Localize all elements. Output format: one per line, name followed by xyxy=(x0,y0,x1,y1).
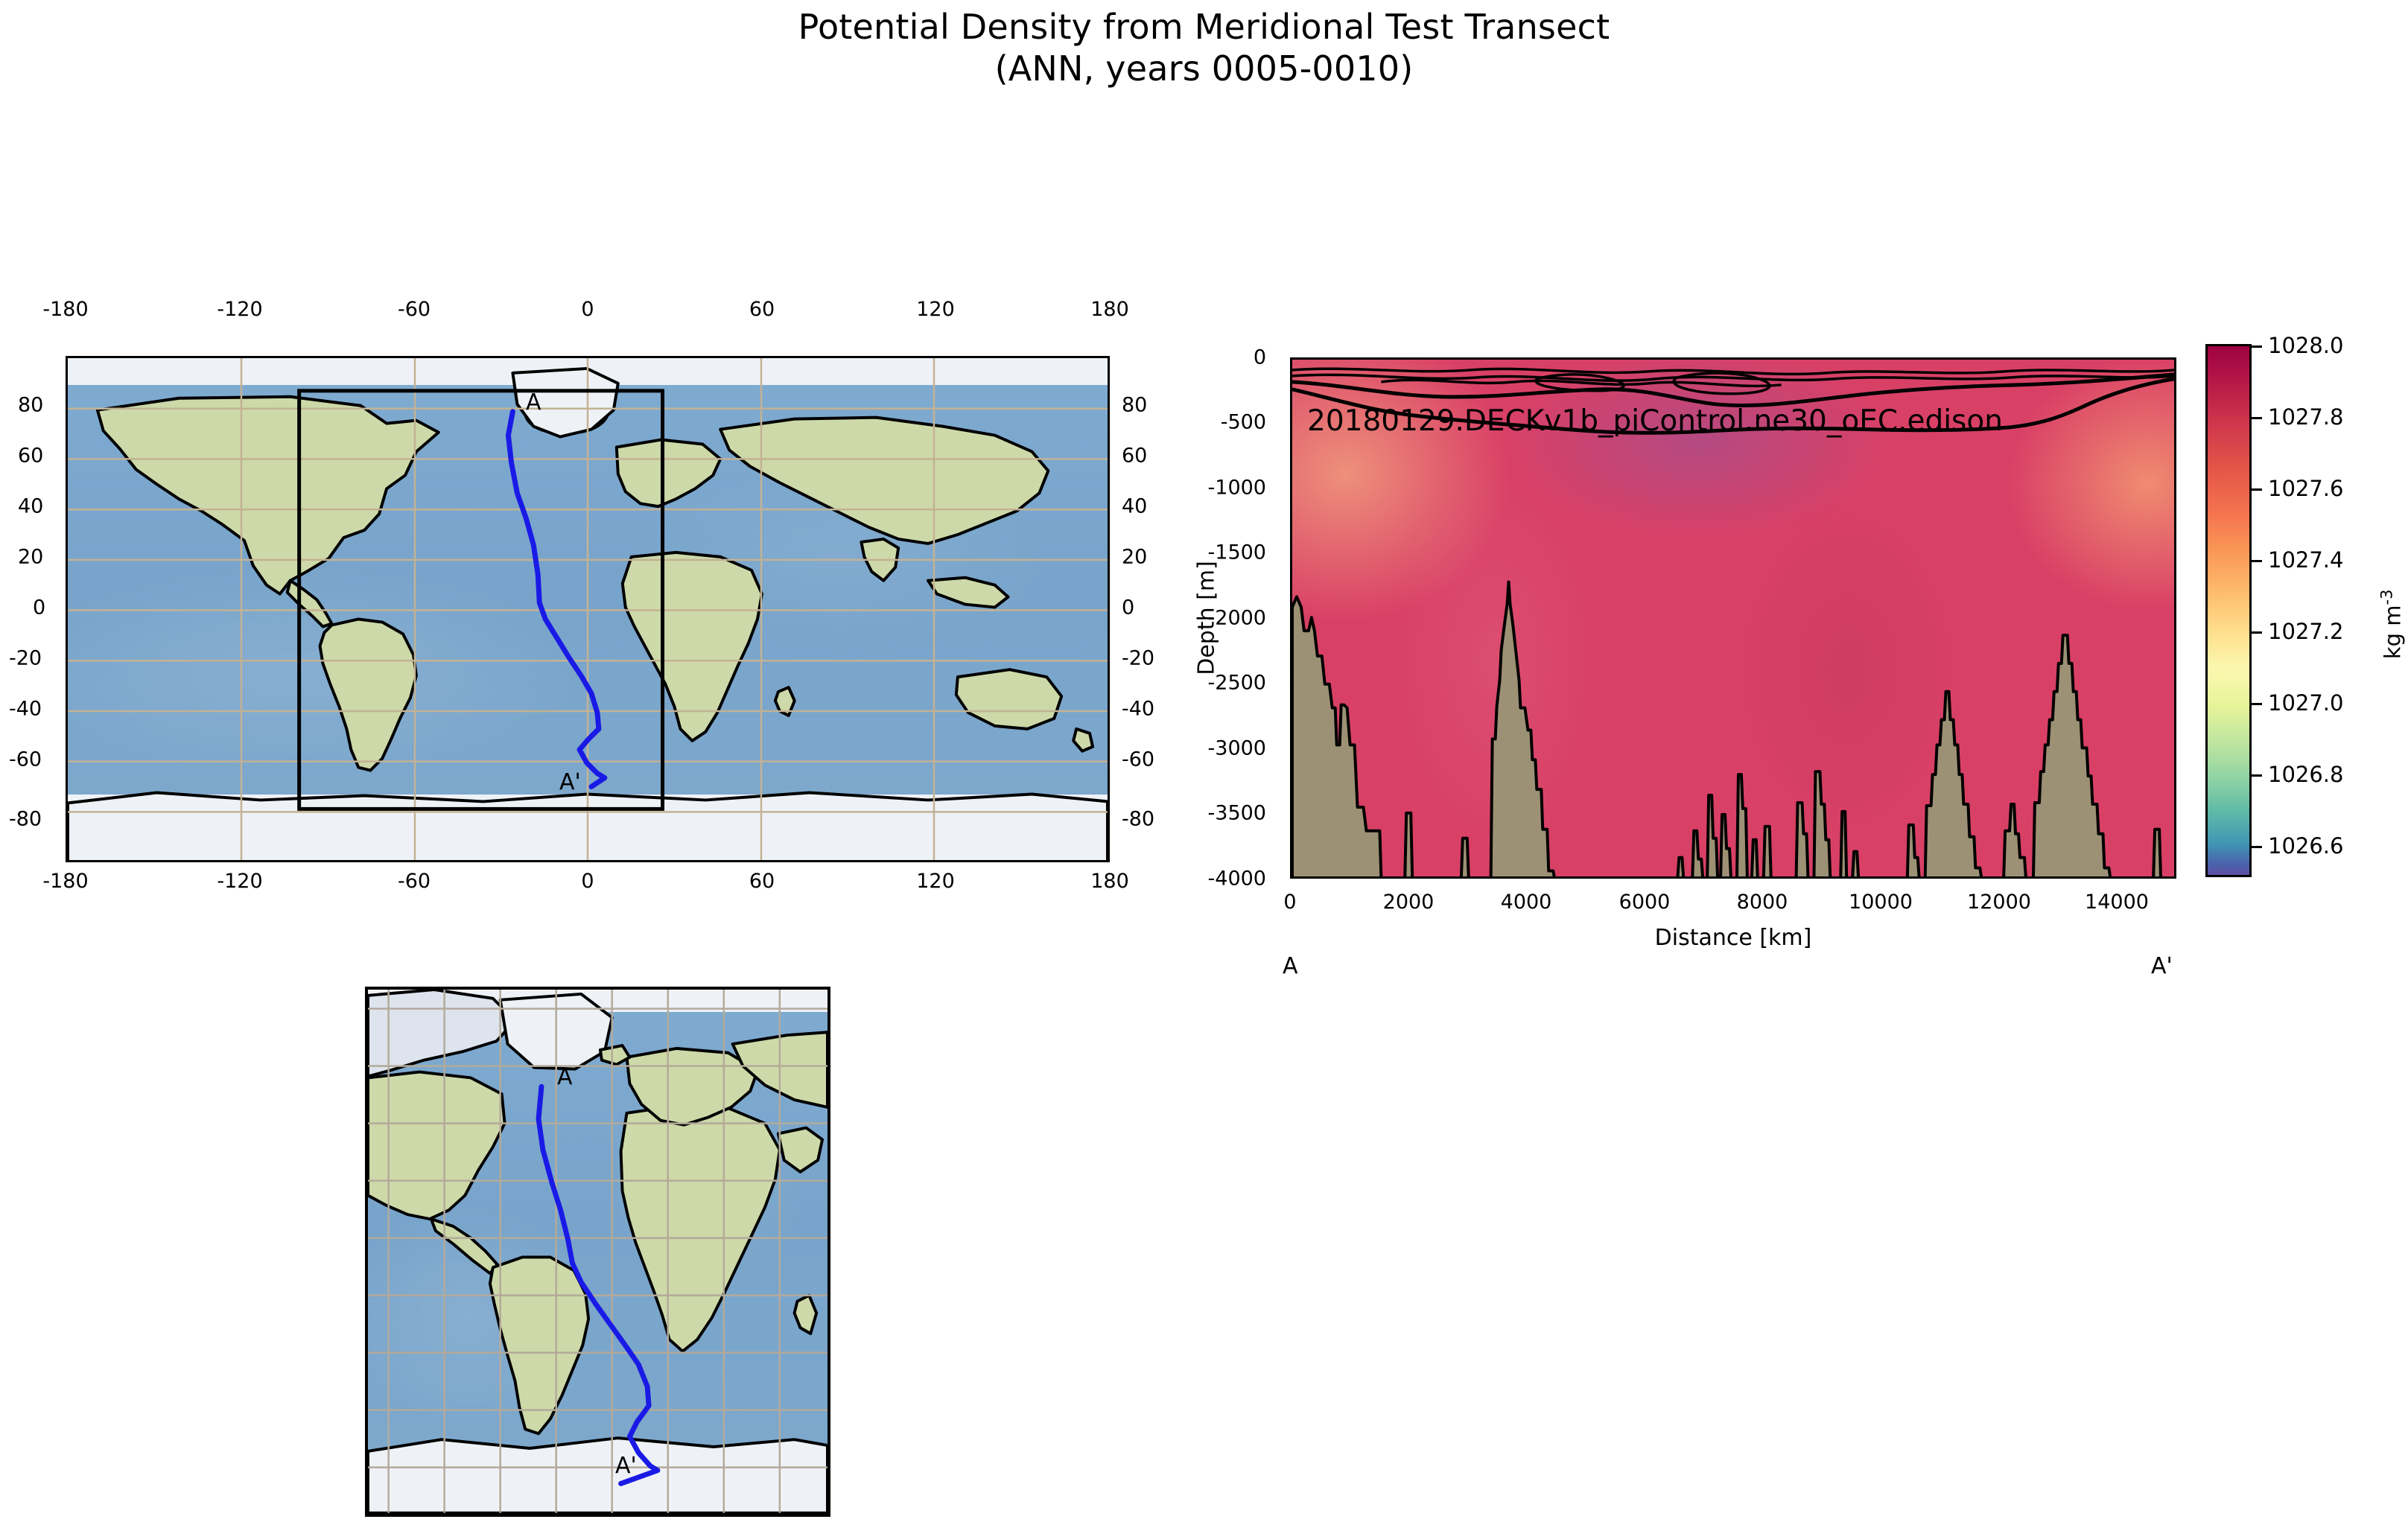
colorbar-tick-mark-5 xyxy=(2252,703,2262,705)
worldmap-lat-tick-left-5: -20 xyxy=(9,647,42,670)
xsec-y-tick-6: -3000 xyxy=(1208,737,1266,760)
worldmap-lon-tick-bottom-0: -180 xyxy=(42,870,88,893)
worldmap-lon-tick-top-6: 180 xyxy=(1090,298,1129,321)
cross-section-frame: 20180129.DECKv1b_piControl.ne30_oEC.edis… xyxy=(1290,357,2176,879)
xsec-x-tick-5: 10000 xyxy=(1849,891,1913,914)
world-map-geography xyxy=(68,358,1108,862)
xsec-start-label: A xyxy=(1283,953,1298,979)
worldmap-lon-tick-top-2: -60 xyxy=(398,298,431,321)
worldmap-lat-tick-right-4: 0 xyxy=(1122,596,1134,620)
inset-transect-end-label: A' xyxy=(615,1453,637,1479)
run-name-annotation: 20180129.DECKv1b_piControl.ne30_oEC.edis… xyxy=(1307,404,2003,438)
worldmap-lat-tick-left-7: -60 xyxy=(9,748,42,771)
xsec-y-tick-8: -4000 xyxy=(1208,867,1266,891)
worldmap-lat-tick-left-8: -80 xyxy=(9,808,42,831)
worldmap-lon-tick-top-0: -180 xyxy=(42,298,88,321)
worldmap-lat-tick-right-3: 20 xyxy=(1122,546,1147,569)
colorbar-unit-exponent: -3 xyxy=(2378,590,2396,605)
worldmap-lon-tick-bottom-3: 0 xyxy=(581,870,594,893)
worldmap-lon-tick-top-3: 0 xyxy=(581,298,594,321)
xsec-x-axis-label: Distance [km] xyxy=(1655,925,1812,951)
worldmap-lat-tick-right-7: -60 xyxy=(1122,748,1154,771)
colorbar-label-2: 1027.6 xyxy=(2268,476,2343,501)
worldmap-lon-tick-top-1: -120 xyxy=(217,298,262,321)
colorbar-label-4: 1027.2 xyxy=(2268,619,2343,644)
inset-map[interactable]: A A' xyxy=(365,987,830,1517)
world-map-frame: A A' xyxy=(66,356,1110,862)
colorbar-label-3: 1027.4 xyxy=(2268,547,2343,573)
colorbar-tick-mark-4 xyxy=(2252,631,2262,634)
xsec-x-tick-6: 12000 xyxy=(1967,891,2031,914)
worldmap-lat-tick-left-2: 40 xyxy=(18,495,43,518)
xsec-y-tick-2: -1000 xyxy=(1208,477,1266,500)
xsec-y-tick-0: 0 xyxy=(1254,346,1266,369)
xsec-x-tick-3: 6000 xyxy=(1619,891,1671,914)
worldmap-lat-tick-left-3: 20 xyxy=(18,546,43,569)
colorbar-tick-mark-3 xyxy=(2252,560,2262,562)
colorbar-label-0: 1028.0 xyxy=(2268,333,2343,358)
transect-start-label: A xyxy=(526,389,541,416)
worldmap-lon-tick-top-5: 120 xyxy=(916,298,955,321)
inset-map-geography xyxy=(368,990,827,1513)
worldmap-lat-tick-left-1: 60 xyxy=(18,445,43,468)
worldmap-lat-tick-right-5: -20 xyxy=(1122,647,1154,670)
colorbar[interactable]: 1028.0 1027.8 1027.6 1027.4 1027.2 1027.… xyxy=(2205,344,2252,877)
colorbar-tick-mark-7 xyxy=(2252,846,2262,848)
xsec-x-tick-0: 0 xyxy=(1283,891,1296,914)
figure-title-line1: Potential Density from Meridional Test T… xyxy=(798,7,1610,47)
worldmap-lon-tick-bottom-5: 120 xyxy=(916,870,955,893)
figure-title-line2: (ANN, years 0005-0010) xyxy=(0,48,2408,89)
colorbar-label-7: 1026.6 xyxy=(2268,833,2343,859)
colorbar-label-6: 1026.8 xyxy=(2268,762,2343,787)
worldmap-lon-tick-bottom-1: -120 xyxy=(217,870,262,893)
colorbar-unit-label: kg m-3 xyxy=(2378,590,2406,660)
worldmap-lat-tick-left-0: 80 xyxy=(18,394,43,417)
colorbar-tick-mark-2 xyxy=(2252,488,2262,491)
transect-line xyxy=(508,412,604,787)
worldmap-lat-tick-left-6: -40 xyxy=(9,698,42,721)
worldmap-lat-tick-right-6: -40 xyxy=(1122,698,1154,721)
figure-title: Potential Density from Meridional Test T… xyxy=(0,6,2408,89)
xsec-x-tick-2: 4000 xyxy=(1501,891,1552,914)
worldmap-lon-tick-bottom-6: 180 xyxy=(1090,870,1129,893)
worldmap-lat-tick-right-8: -80 xyxy=(1122,808,1154,831)
xsec-y-tick-1: -500 xyxy=(1221,411,1266,434)
inset-transect-start-label: A xyxy=(557,1064,573,1090)
worldmap-lat-tick-right-1: 60 xyxy=(1122,445,1147,468)
xsec-x-tick-7: 14000 xyxy=(2085,891,2149,914)
world-map[interactable]: A A' xyxy=(66,356,1110,862)
colorbar-tick-mark-6 xyxy=(2252,774,2262,777)
worldmap-lat-tick-right-2: 40 xyxy=(1122,495,1147,518)
worldmap-lat-tick-right-0: 80 xyxy=(1122,394,1147,417)
colorbar-tick-mark-0 xyxy=(2252,346,2262,348)
bathymetry-profile xyxy=(1292,582,2161,878)
colorbar-tick-mark-1 xyxy=(2252,417,2262,419)
colorbar-unit-text: kg m xyxy=(2380,605,2405,659)
colorbar-label-5: 1027.0 xyxy=(2268,690,2343,716)
shallow-contours xyxy=(1292,369,2174,394)
colorbar-gradient xyxy=(2205,344,2252,877)
transect-end-label: A' xyxy=(559,769,581,795)
colorbar-label-1: 1027.8 xyxy=(2268,404,2343,430)
cross-section-plot[interactable]: 20180129.DECKv1b_piControl.ne30_oEC.edis… xyxy=(1290,357,2176,879)
xsec-y-axis-label: Depth [m] xyxy=(1194,561,1220,675)
worldmap-lon-tick-top-4: 60 xyxy=(749,298,775,321)
xsec-x-tick-1: 2000 xyxy=(1383,891,1435,914)
xsec-x-tick-4: 8000 xyxy=(1737,891,1788,914)
inset-map-frame: A A' xyxy=(365,987,830,1517)
xsec-end-label: A' xyxy=(2151,953,2173,979)
worldmap-lon-tick-bottom-2: -60 xyxy=(398,870,431,893)
xsec-y-tick-7: -3500 xyxy=(1208,802,1266,825)
worldmap-lon-tick-bottom-4: 60 xyxy=(749,870,775,893)
worldmap-lat-tick-left-4: 0 xyxy=(33,596,45,620)
